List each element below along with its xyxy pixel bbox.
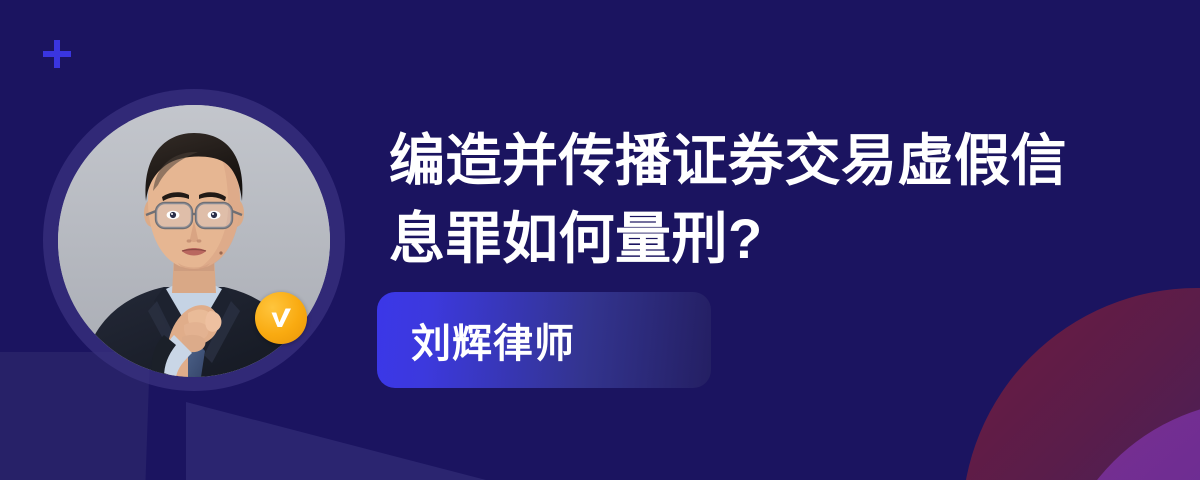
lawyer-qa-banner: 编造并传播证券交易虚假信息罪如何量刑? 刘辉律师 — [0, 0, 1200, 480]
page-title: 编造并传播证券交易虚假信息罪如何量刑? — [389, 122, 1079, 278]
verified-check-icon — [255, 292, 307, 344]
lawyer-name-label: 刘辉律师 — [377, 311, 575, 369]
lawyer-name-badge[interactable]: 刘辉律师 — [377, 292, 711, 388]
decorative-circle-maroon — [962, 288, 1200, 480]
avatar — [43, 89, 345, 391]
decorative-triangle — [186, 402, 486, 480]
plus-icon — [41, 38, 73, 70]
decorative-circle-purple — [1052, 400, 1200, 480]
